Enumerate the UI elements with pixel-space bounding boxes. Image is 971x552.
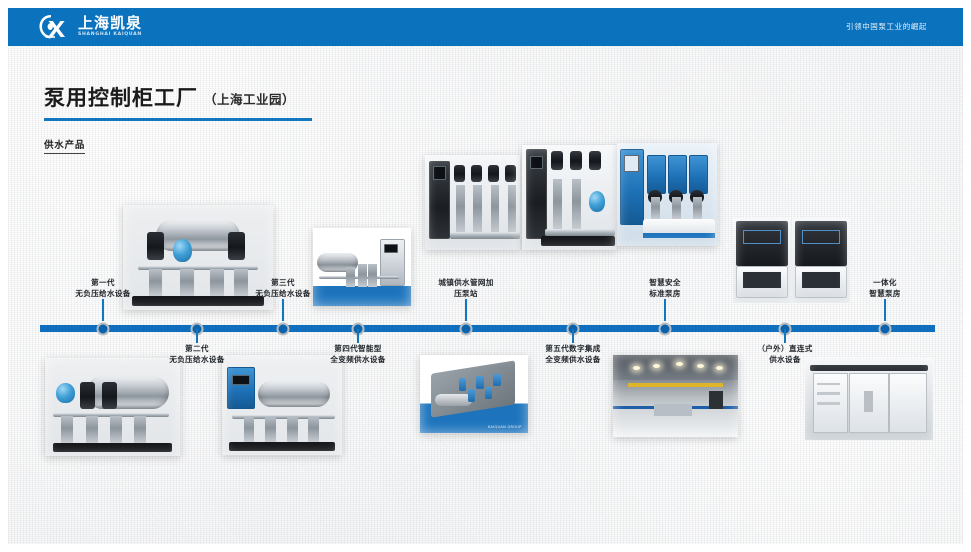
photo-outdoor-left xyxy=(733,218,791,303)
slide-page: 上海凯泉 SHANGHAI KAIQUAN 引领中国泵工业的崛起 泵用控制柜工厂… xyxy=(0,0,971,552)
timeline-label-line2: 标准泵房 xyxy=(649,288,681,299)
timeline-label-line1: 第三代 xyxy=(255,277,310,288)
timeline-label: 第二代无负压给水设备 xyxy=(169,343,224,365)
timeline-connector xyxy=(196,329,198,343)
timeline-label-line2: 全变频供水设备 xyxy=(545,354,600,365)
timeline-connector xyxy=(102,299,104,321)
timeline-dot-icon xyxy=(97,322,110,335)
brand-logo-text: 上海凯泉 SHANGHAI KAIQUAN xyxy=(78,16,142,38)
timeline-bar xyxy=(40,325,935,332)
timeline-label-line2: 无负压给水设备 xyxy=(169,354,224,365)
photo-gen5a xyxy=(425,155,520,250)
brand-logo: 上海凯泉 SHANGHAI KAIQUAN xyxy=(38,12,142,42)
photo-booster: KAIQUAN GROUP xyxy=(420,355,528,433)
timeline-connector xyxy=(465,299,467,321)
timeline-dot-icon xyxy=(460,322,473,335)
timeline-dot-icon xyxy=(277,322,290,335)
photo-gen3 xyxy=(222,355,342,455)
photo-gen5b xyxy=(522,145,617,250)
header-slogan: 引领中国泵工业的崛起 xyxy=(846,8,927,46)
title-block: 泵用控制柜工厂 （上海工业园） 供水产品 xyxy=(44,88,312,154)
timeline-label-line1: 第一代 xyxy=(75,277,130,288)
kaiquan-logo-icon xyxy=(38,13,72,41)
section-label: 供水产品 xyxy=(44,137,85,154)
header-bar: 上海凯泉 SHANGHAI KAIQUAN 引领中国泵工业的崛起 xyxy=(8,8,963,46)
page-subtitle: （上海工业园） xyxy=(204,89,295,109)
timeline-label-line2: 全变频供水设备 xyxy=(330,354,385,365)
timeline-connector xyxy=(784,329,786,343)
timeline-label-line1: 智慧安全 xyxy=(649,277,681,288)
timeline-label-line1: 第四代智能型 xyxy=(330,343,385,354)
timeline-label: 城镇供水管网加压泵站 xyxy=(438,277,493,299)
photo-smartroom xyxy=(613,355,738,437)
timeline-label-line1: 一体化 xyxy=(869,277,901,288)
timeline-label: 智慧安全标准泵房 xyxy=(649,277,681,299)
timeline-label-line2: 无负压给水设备 xyxy=(255,288,310,299)
timeline-label-line1: 第二代 xyxy=(169,343,224,354)
timeline-label: 第五代数字集成全变频供水设备 xyxy=(545,343,600,365)
timeline-label: 第四代智能型全变频供水设备 xyxy=(330,343,385,365)
timeline-label-line2: 供水设备 xyxy=(757,354,812,365)
timeline-label-line2: 压泵站 xyxy=(438,288,493,299)
brand-name-cn: 上海凯泉 xyxy=(78,16,142,31)
timeline-connector xyxy=(884,299,886,321)
timeline-dot-icon xyxy=(659,322,672,335)
photo-smartroom-unit xyxy=(617,143,717,246)
photo-integrated xyxy=(805,358,933,440)
photo-gen1 xyxy=(123,205,273,310)
timeline-label: 第一代无负压给水设备 xyxy=(75,277,130,299)
timeline-label: 一体化智慧泵房 xyxy=(869,277,901,299)
title-row: 泵用控制柜工厂 （上海工业园） xyxy=(44,88,312,109)
timeline-label-line2: 无负压给水设备 xyxy=(75,288,130,299)
timeline-label-line1: （户外）直连式 xyxy=(757,343,812,354)
timeline-connector xyxy=(282,299,284,321)
photo-outdoor-right xyxy=(792,218,850,303)
timeline-connector xyxy=(357,329,359,343)
timeline-connector xyxy=(572,329,574,343)
timeline-label: 第三代无负压给水设备 xyxy=(255,277,310,299)
photo-gen2 xyxy=(45,358,180,456)
timeline-label-line2: 智慧泵房 xyxy=(869,288,901,299)
photo-gen4 xyxy=(313,228,411,306)
timeline-label-line1: 第五代数字集成 xyxy=(545,343,600,354)
timeline-connector xyxy=(664,299,666,321)
timeline-dot-icon xyxy=(879,322,892,335)
page-title: 泵用控制柜工厂 xyxy=(44,88,198,109)
timeline-label-line1: 城镇供水管网加 xyxy=(438,277,493,288)
timeline-label: （户外）直连式供水设备 xyxy=(757,343,812,365)
title-underline xyxy=(44,118,312,121)
brand-name-en: SHANGHAI KAIQUAN xyxy=(78,33,142,38)
